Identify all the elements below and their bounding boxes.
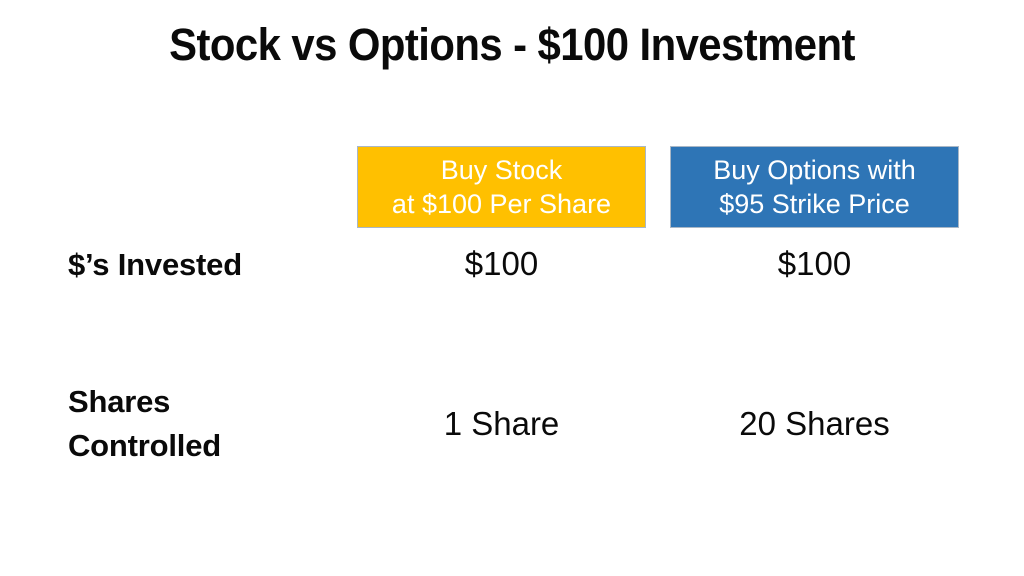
page-title: Stock vs Options - $100 Investment (36, 18, 988, 72)
row-label-dollars-invested-line1: $’s Invested (68, 243, 348, 287)
column-header-buy-stock-line2: at $100 Per Share (392, 187, 611, 221)
cell-shares-controlled-buy-options: 20 Shares (670, 403, 959, 445)
slide-canvas: Stock vs Options - $100 Investment Buy S… (0, 0, 1024, 576)
row-label-shares-controlled-line2: Controlled (68, 424, 348, 468)
column-header-buy-options-line2: $95 Strike Price (719, 187, 910, 221)
cell-dollars-invested-buy-options: $100 (670, 243, 959, 285)
column-header-buy-stock-line1: Buy Stock (441, 153, 563, 187)
column-header-buy-options-line1: Buy Options with (713, 153, 916, 187)
cell-shares-controlled-buy-stock: 1 Share (357, 403, 646, 445)
row-label-dollars-invested: $’s Invested (68, 243, 348, 287)
cell-dollars-invested-buy-stock: $100 (357, 243, 646, 285)
row-label-shares-controlled: Shares Controlled (68, 380, 348, 468)
column-header-buy-stock: Buy Stock at $100 Per Share (357, 146, 646, 228)
column-header-buy-options: Buy Options with $95 Strike Price (670, 146, 959, 228)
row-label-shares-controlled-line1: Shares (68, 380, 348, 424)
